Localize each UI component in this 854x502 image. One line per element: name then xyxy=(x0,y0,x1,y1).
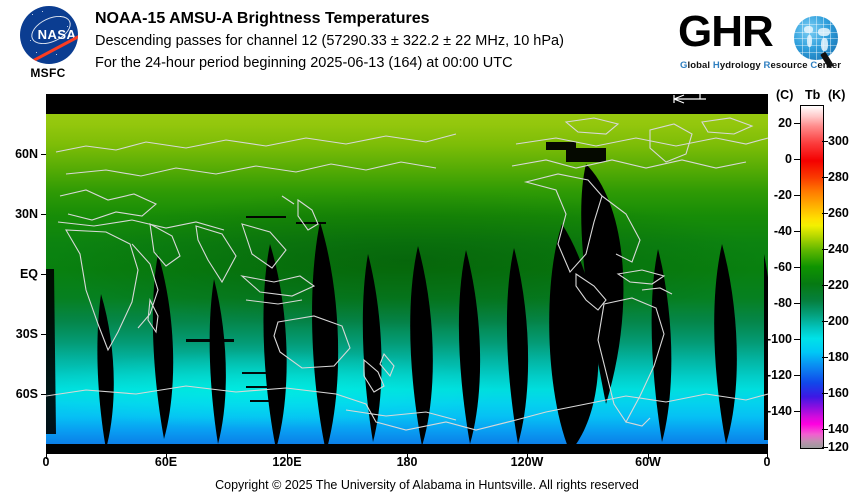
subtitle-period: For the 24-hour period beginning 2025-06… xyxy=(95,52,564,74)
cbar-c-m80: -80 xyxy=(774,296,792,310)
raster-bottom-band xyxy=(46,444,768,454)
cbar-k-140: 140 xyxy=(828,422,849,436)
cbar-c-20: 20 xyxy=(778,116,792,130)
x-tick-60e: 60E xyxy=(155,455,177,469)
subtitle-channel: Descending passes for channel 12 (57290.… xyxy=(95,30,564,52)
cbar-k-240: 240 xyxy=(828,242,849,256)
y-tick-60n: 60N xyxy=(0,147,38,161)
colorbar[interactable]: 300 280 260 240 220 200 180 160 140 120 … xyxy=(800,105,822,447)
nasa-center-label: MSFC xyxy=(12,66,84,80)
x-tick-120e: 120E xyxy=(272,455,301,469)
ghrc-logo: GHR Global Hydrology Resource Center xyxy=(676,8,846,80)
cbar-k-120: 120 xyxy=(828,440,849,454)
cbar-k-160: 160 xyxy=(828,386,849,400)
cbar-c-m20: -20 xyxy=(774,188,792,202)
x-tick-0-end: 0 xyxy=(764,455,771,469)
copyright-notice: Copyright © 2025 The University of Alaba… xyxy=(0,478,854,492)
colorbar-header-celsius: (C) xyxy=(776,88,793,102)
cbar-k-260: 260 xyxy=(828,206,849,220)
cbar-c-m40: -40 xyxy=(774,224,792,238)
y-tick-60s: 60S xyxy=(0,387,38,401)
ghrc-subtitle: Global Hydrology Resource Center xyxy=(680,60,841,71)
x-tick-60w: 60W xyxy=(635,455,661,469)
nasa-insignia: NASA MSFC xyxy=(12,6,84,84)
cbar-c-m60: -60 xyxy=(774,260,792,274)
cbar-k-200: 200 xyxy=(828,314,849,328)
colorbar-header-variable: Tb xyxy=(805,88,820,102)
cbar-k-180: 180 xyxy=(828,350,849,364)
y-tick-30n: 30N xyxy=(0,207,38,221)
colorbar-header-kelvin: (K) xyxy=(828,88,845,102)
raster-top-band xyxy=(46,104,768,114)
map-plot-area[interactable] xyxy=(46,94,768,454)
cbar-k-300: 300 xyxy=(828,134,849,148)
cbar-k-280: 280 xyxy=(828,170,849,184)
cbar-c-0: 0 xyxy=(785,152,792,166)
page-title: NOAA-15 AMSU-A Brightness Temperatures xyxy=(95,8,564,30)
colorbar-gradient xyxy=(800,105,824,449)
title-block: NOAA-15 AMSU-A Brightness Temperatures D… xyxy=(95,8,564,74)
brightness-temperature-raster xyxy=(46,104,768,444)
ghrc-wordmark: GHR xyxy=(678,10,773,54)
nasa-ball: NASA xyxy=(20,6,78,64)
scan-direction-arrow-icon xyxy=(672,94,712,104)
x-tick-0: 0 xyxy=(43,455,50,469)
globe-icon xyxy=(794,16,838,60)
header: NASA MSFC NOAA-15 AMSU-A Brightness Temp… xyxy=(0,0,854,90)
y-tick-eq: EQ xyxy=(0,267,38,281)
cbar-c-m100: -100 xyxy=(767,332,792,346)
y-tick-30s: 30S xyxy=(0,327,38,341)
x-tick-120w: 120W xyxy=(511,455,544,469)
cbar-c-m120: -120 xyxy=(767,368,792,382)
coastline-overlay xyxy=(46,104,768,444)
cbar-c-m140: -140 xyxy=(767,404,792,418)
cbar-k-220: 220 xyxy=(828,278,849,292)
x-tick-180: 180 xyxy=(397,455,418,469)
